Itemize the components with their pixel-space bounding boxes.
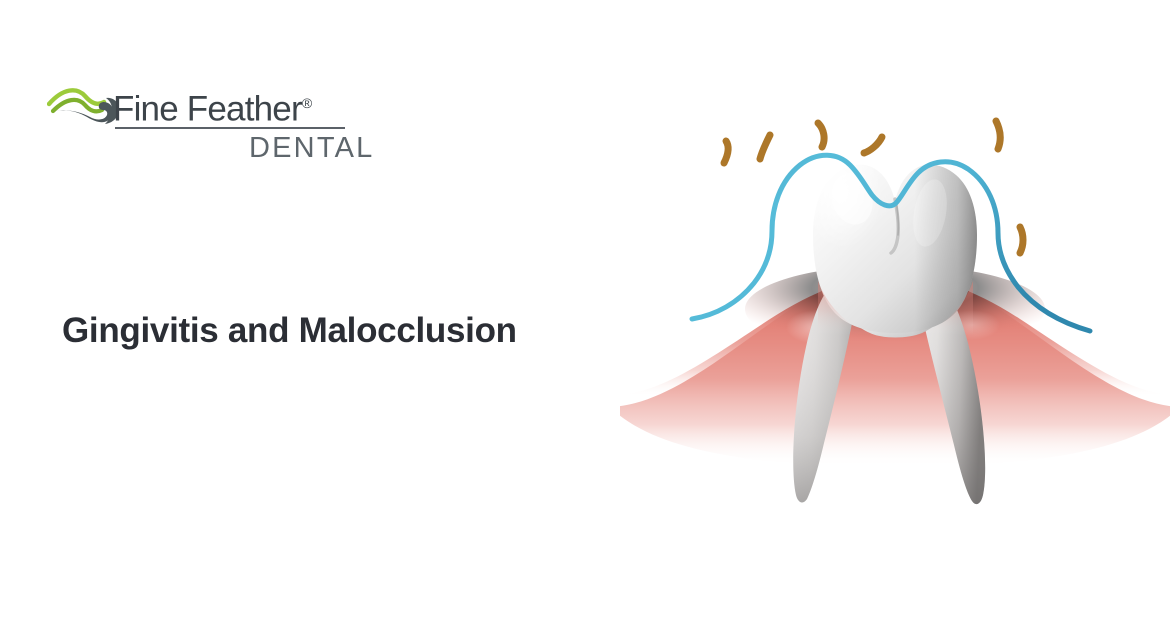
page-root: Fine Feather® DENTAL Gingivitis and Malo… — [0, 0, 1170, 628]
logo-subtitle: DENTAL — [249, 131, 374, 165]
bacteria-rod — [996, 121, 1000, 149]
tooth-crown — [813, 165, 977, 336]
bacteria-rod — [818, 123, 824, 147]
registered-trademark-icon: ® — [302, 95, 312, 111]
bacteria-rod — [724, 141, 728, 163]
bacteria-rod — [760, 135, 770, 159]
bacteria-rod — [864, 137, 882, 153]
page-title: Gingivitis and Malocclusion — [62, 309, 517, 353]
logo-wordmark: Fine Feather® DENTAL — [113, 83, 353, 127]
inflamed-gums-molar-tooth-illustration — [620, 95, 1170, 535]
logo-name: Fine Feather® — [113, 83, 312, 130]
logo-divider-rule — [115, 127, 345, 129]
bacteria-rod — [1020, 227, 1023, 253]
logo-name-text: Fine Feather — [113, 90, 302, 129]
brand-logo[interactable]: Fine Feather® DENTAL — [47, 83, 347, 171]
